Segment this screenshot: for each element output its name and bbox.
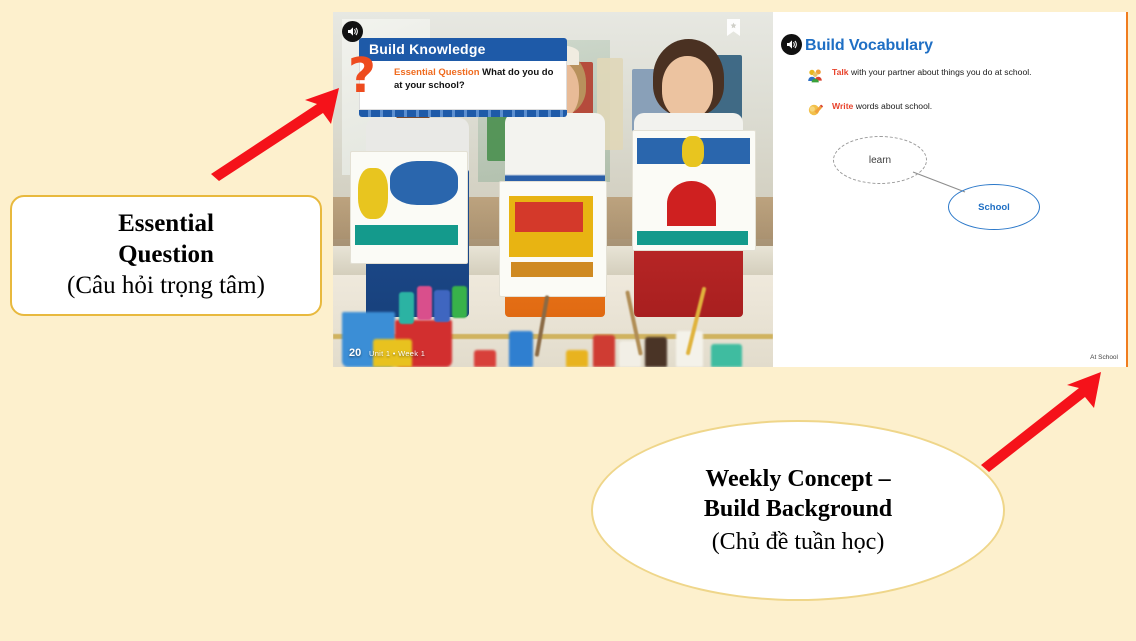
eq-english-line2: Question: [118, 240, 214, 271]
wc-vietnamese: (Chủ đề tuần học): [712, 527, 885, 557]
paint-jar: [566, 350, 588, 367]
talk-keyword: Talk: [832, 67, 849, 77]
page-number: 20: [349, 347, 361, 359]
write-pencil-icon: [807, 101, 824, 118]
arrow-to-weekly-concept: [975, 368, 1105, 473]
unit-week-label: Unit 1 • Week 1: [369, 349, 425, 358]
textbook-left-page-photo: Build Knowledge ? Essential Question Wha…: [333, 12, 773, 367]
page-footer-label: At School: [1090, 354, 1118, 361]
wc-english-line1: Weekly Concept –: [705, 464, 890, 494]
essential-question-annotation-box: Essential Question (Câu hỏi trọng tâm): [10, 195, 322, 316]
essential-question-label: Essential Question: [394, 67, 480, 78]
essential-question-text: Essential Question What do you do at you…: [394, 67, 558, 92]
eq-english-line1: Essential: [118, 209, 214, 240]
word-web-node-school-label: School: [978, 202, 1010, 213]
callout-stripe: [359, 110, 567, 117]
child-painting: [350, 151, 468, 264]
build-knowledge-callout: Build Knowledge ? Essential Question Wha…: [359, 38, 567, 117]
textbook-spread: Build Knowledge ? Essential Question Wha…: [333, 12, 1128, 367]
marker: [417, 286, 432, 320]
paint-stroke: [358, 168, 388, 219]
word-web-connector: [793, 122, 1103, 247]
talk-body: with your partner about things you do at…: [849, 67, 1032, 77]
paint-jar: [645, 337, 667, 367]
speaker-icon[interactable]: [342, 21, 363, 42]
paint-stroke: [696, 138, 750, 164]
word-web-diagram[interactable]: learn School: [793, 122, 1103, 247]
build-knowledge-banner: Build Knowledge: [359, 38, 567, 61]
speaker-icon[interactable]: [781, 34, 802, 55]
word-web-node-school[interactable]: School: [948, 184, 1040, 230]
talk-partners-icon: [807, 67, 824, 84]
paintbrush: [534, 295, 549, 357]
glue-bottle: [509, 331, 533, 367]
paint-stroke: [637, 231, 747, 245]
vocabulary-bullet-write: Write words about school.: [807, 100, 1077, 118]
build-knowledge-body: ? Essential Question What do you do at y…: [359, 61, 567, 110]
talk-bullet-text: Talk with your partner about things you …: [832, 66, 1032, 79]
page-edge-rule: [1126, 12, 1128, 367]
paint-heart: [667, 181, 716, 226]
word-web-node-learn[interactable]: learn: [833, 136, 927, 184]
child-head: [662, 56, 714, 118]
paint-stroke: [637, 138, 686, 164]
vocabulary-bullet-talk: Talk with your partner about things you …: [807, 66, 1077, 84]
paint-jar: [474, 350, 496, 367]
write-keyword: Write: [832, 101, 853, 111]
arrow-to-essential-question: [205, 82, 345, 182]
paint-jar: [593, 335, 615, 367]
paint-stroke: [515, 202, 583, 232]
paint-stroke: [682, 136, 704, 167]
eq-vietnamese: (Câu hỏi trọng tâm): [67, 271, 265, 302]
paint-stroke: [390, 161, 457, 205]
textbook-right-page-vocabulary: Build Vocabulary Talk with your partner …: [773, 12, 1128, 367]
paint-stroke: [355, 225, 457, 245]
paint-jar: [711, 344, 742, 367]
marker: [452, 286, 467, 318]
bookmark-icon[interactable]: [726, 18, 741, 37]
build-vocabulary-title: Build Vocabulary: [805, 37, 933, 55]
marker: [399, 292, 414, 324]
marker: [434, 290, 449, 322]
write-bullet-text: Write words about school.: [832, 100, 932, 113]
wc-english-line2: Build Background: [704, 494, 892, 524]
write-body: words about school.: [853, 101, 932, 111]
word-web-node-learn-label: learn: [869, 155, 891, 166]
question-mark-icon: ?: [348, 57, 376, 96]
weekly-concept-annotation-oval: Weekly Concept – Build Background (Chủ đ…: [591, 420, 1005, 601]
child-painting: [632, 130, 757, 251]
